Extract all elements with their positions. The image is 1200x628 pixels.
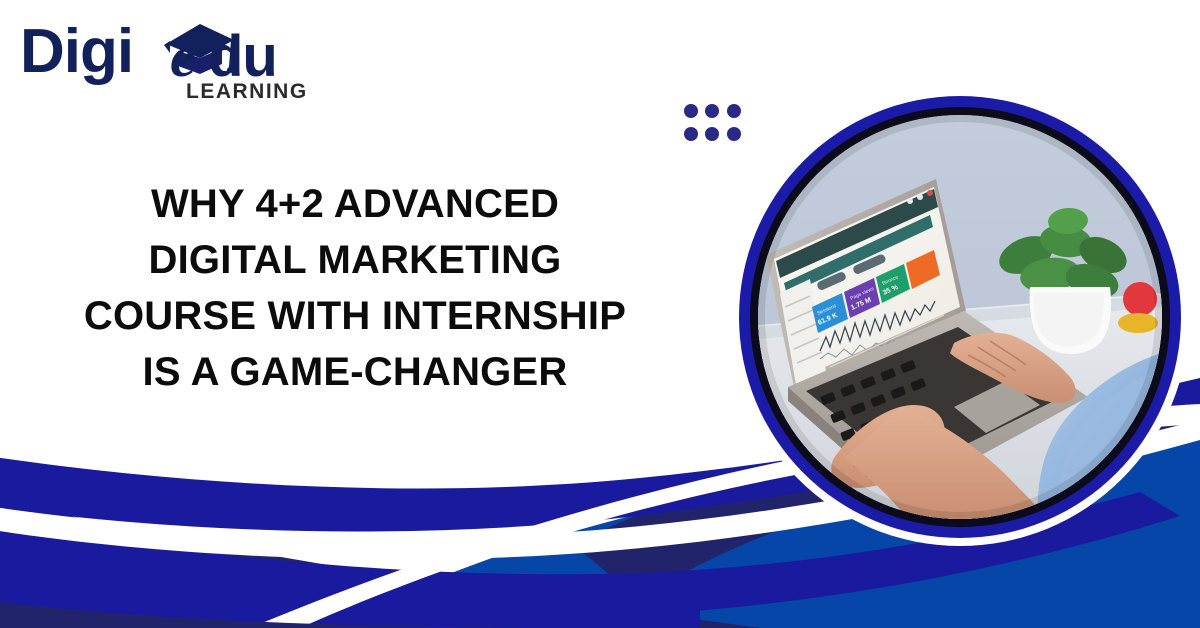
circular-hero-photo: Sessions 61.9 K Page views 1.75 M Bounce… [758,115,1162,519]
headline-line-2: DIGITAL MARKETING [30,232,680,288]
wave-deep-blue-mass [0,536,700,628]
promo-banner: Digi e du LEARNING WHY 4+2 ADVANCED DIG [0,0,1200,628]
dot-grid-decoration [684,104,742,144]
decor-dot [684,127,698,141]
decor-dot [727,104,741,118]
wave-bottom-fringe [0,600,560,628]
headline-block: WHY 4+2 ADVANCED DIGITAL MARKETING COURS… [30,176,680,400]
headline-line-3: COURSE WITH INTERNSHIP [30,288,680,344]
logo-sub-text: LEARNING [186,80,308,102]
brand-logo[interactable]: Digi e du LEARNING [18,10,308,102]
circular-photo-frame: Sessions 61.9 K Page views 1.75 M Bounce… [731,88,1189,546]
decor-dot [705,127,719,141]
headline-line-4: IS A GAME-CHANGER [30,344,680,400]
headline-line-1: WHY 4+2 ADVANCED [30,176,680,232]
wave-dark-navy [0,495,760,628]
photo-red-object [1123,282,1157,316]
decor-dot [684,104,698,118]
photo-yellow-object [1118,313,1158,333]
decor-dot [727,127,741,141]
logo-main-text: Digi [20,17,133,86]
decor-dot [705,104,719,118]
